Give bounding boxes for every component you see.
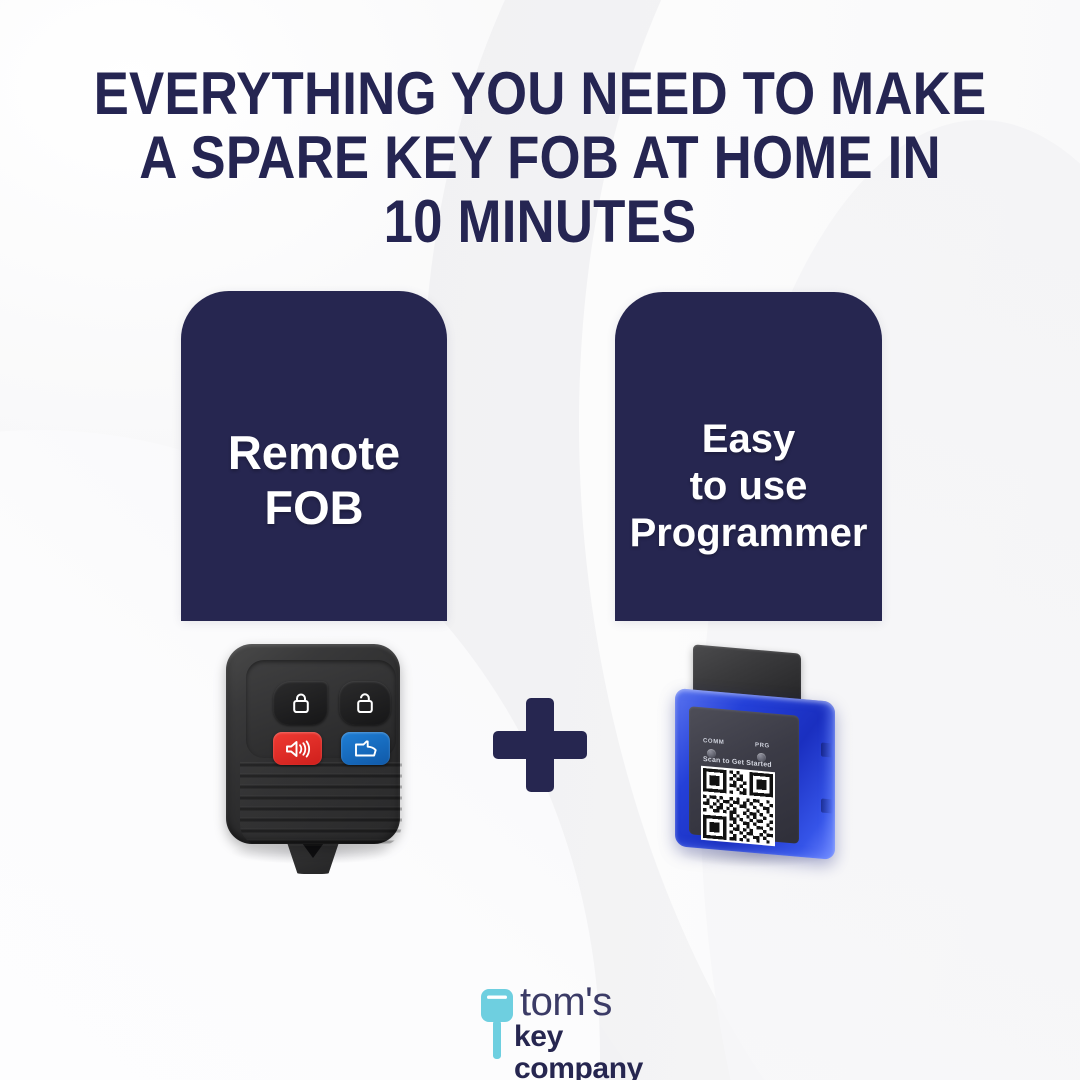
key-fob-image — [218, 640, 410, 875]
headline-line-2: A SPARE KEY FOB AT HOME IN — [65, 126, 1015, 190]
unlock-icon — [355, 691, 375, 715]
key-fob-body — [226, 644, 400, 844]
obd-programmer-notch-bottom — [821, 798, 833, 813]
lock-icon — [291, 691, 311, 715]
key-fob-panic-button — [273, 732, 322, 765]
brand-logo: tom's key company — [476, 983, 681, 1065]
card-programmer-line-1: Easy — [630, 416, 868, 463]
key-icon — [476, 987, 518, 1061]
card-remote-fob: Remote FOB — [181, 291, 447, 621]
led-label-prg: PRG — [755, 742, 770, 749]
card-remote-fob-line-2: FOB — [228, 480, 400, 535]
brand-logo-text: tom's key company — [520, 983, 680, 1080]
key-fob-unlock-button — [339, 681, 391, 725]
card-programmer-line-2: to use — [630, 463, 868, 510]
panic-horn-icon — [284, 739, 312, 759]
trunk-icon — [353, 739, 379, 759]
brand-name-key-company: key company — [514, 1021, 680, 1080]
card-programmer: Easy to use Programmer — [615, 292, 882, 621]
headline-line-3: 10 MINUTES — [65, 190, 1015, 254]
headline: EVERYTHING YOU NEED TO MAKE A SPARE KEY … — [65, 62, 1015, 254]
obd-programmer-image: COMM PRG Scan to Get Started — [663, 643, 848, 875]
card-remote-fob-text: Remote FOB — [228, 377, 400, 536]
poster-canvas: EVERYTHING YOU NEED TO MAKE A SPARE KEY … — [0, 0, 1080, 1080]
plus-icon-vertical-bar — [526, 698, 554, 792]
plus-icon — [493, 698, 587, 792]
key-fob-trunk-button — [341, 732, 390, 765]
card-programmer-line-3: Programmer — [630, 510, 868, 557]
obd-programmer-notch-top — [821, 742, 833, 757]
key-fob-lock-button — [273, 681, 328, 725]
brand-name-toms: tom's — [520, 983, 680, 1021]
card-programmer-text: Easy to use Programmer — [630, 356, 868, 558]
key-fob-button-pad — [246, 660, 396, 758]
key-fob-ridges — [240, 762, 402, 846]
qr-code — [701, 766, 775, 846]
card-remote-fob-line-1: Remote — [228, 425, 400, 480]
headline-line-1: EVERYTHING YOU NEED TO MAKE — [65, 62, 1015, 126]
